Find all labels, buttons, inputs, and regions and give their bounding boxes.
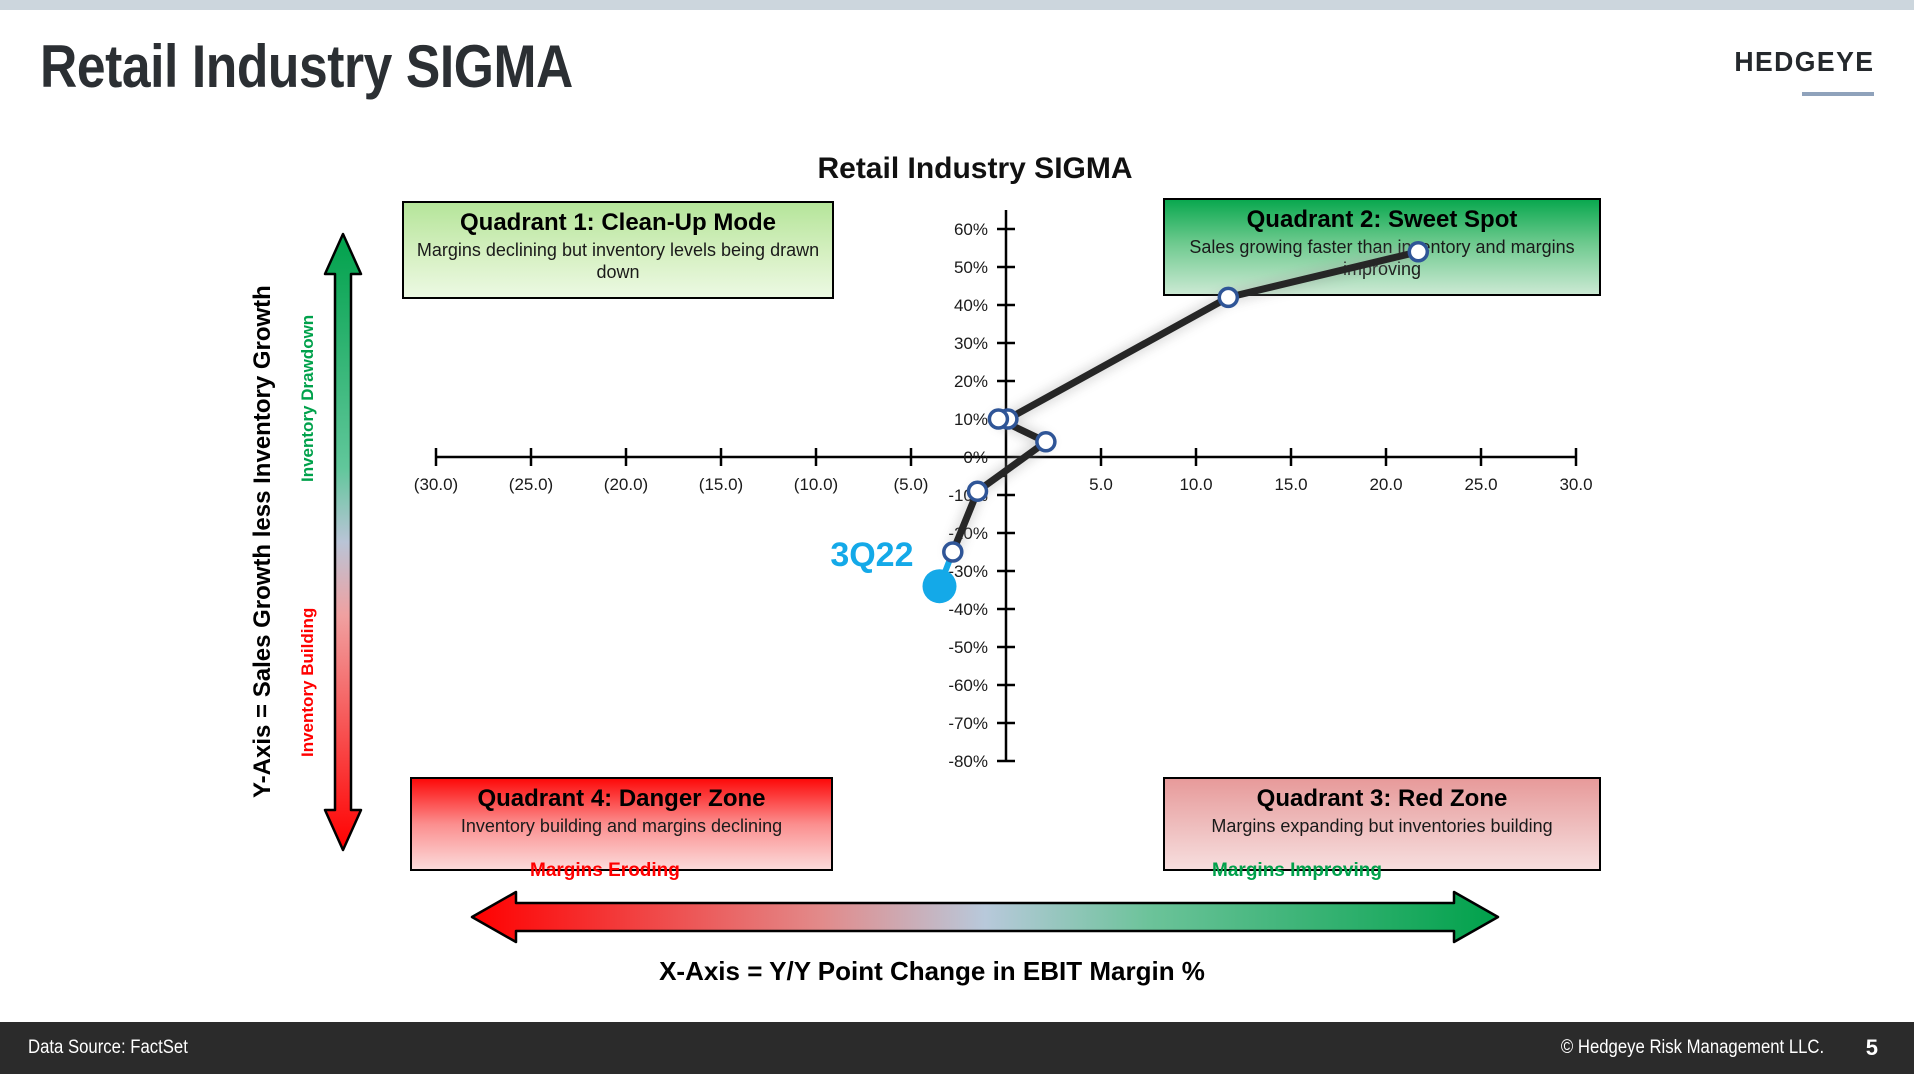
data-point-marker[interactable] <box>989 410 1007 428</box>
x-axis-tick-label: (20.0) <box>604 475 648 494</box>
y-axis-tick-label: 30% <box>954 334 988 353</box>
x-axis-annotation-group: Margins Eroding Margins Improving <box>470 888 1500 948</box>
axis-layer: (30.0)(25.0)(20.0)(15.0)(10.0)(5.0)5.010… <box>414 210 1593 771</box>
x-axis-tick-label: (30.0) <box>414 475 458 494</box>
y-axis-tick-label: -60% <box>948 676 988 695</box>
series-line <box>953 252 1419 552</box>
y-axis-tick-label: -70% <box>948 714 988 733</box>
x-axis-tick-label: (10.0) <box>794 475 838 494</box>
series-line-shadow <box>953 252 1419 552</box>
data-point-marker[interactable] <box>944 543 962 561</box>
y-axis-tick-label: -80% <box>948 752 988 771</box>
x-axis-tick-label: 15.0 <box>1274 475 1307 494</box>
x-axis-tick-label: 30.0 <box>1559 475 1592 494</box>
data-point-marker[interactable] <box>1219 288 1237 306</box>
footer-data-source: Data Source: FactSet <box>28 1037 188 1059</box>
data-point-marker[interactable] <box>969 482 987 500</box>
y-axis-tick-label: 10% <box>954 410 988 429</box>
y-axis-annotation-group: Y-Axis = Sales Growth less Inventory Gro… <box>255 232 375 852</box>
y-axis-tick-label: 0% <box>963 448 988 467</box>
y-axis-tick-label: -40% <box>948 600 988 619</box>
y-axis-caption: Y-Axis = Sales Growth less Inventory Gro… <box>241 232 285 852</box>
page-title: Retail Industry SIGMA <box>40 32 573 101</box>
logo-wordmark: HEDGEYE <box>1734 46 1874 78</box>
x-axis-label-margins-eroding: Margins Eroding <box>530 860 680 882</box>
footer-page-number: 5 <box>1866 1035 1878 1061</box>
x-axis-tick-label: 20.0 <box>1369 475 1402 494</box>
logo-underline-rule <box>1802 92 1874 96</box>
chart-title: Retail Industry SIGMA <box>18 152 1914 186</box>
y-axis-label-inventory-building: Inventory Building <box>293 562 323 802</box>
x-axis-tick-label: 10.0 <box>1179 475 1212 494</box>
x-axis-tick-label: 25.0 <box>1464 475 1497 494</box>
y-axis-tick-label: 60% <box>954 220 988 239</box>
highlight-label-3q22: 3Q22 <box>830 536 913 574</box>
slide-footer: Data Source: FactSet © Hedgeye Risk Mana… <box>0 1022 1914 1074</box>
margins-gradient-arrow-icon <box>470 888 1500 946</box>
top-accent-band <box>0 0 1914 10</box>
inventory-gradient-arrow-icon <box>323 232 363 852</box>
hedgeye-logo: HEDGEYE <box>1727 46 1874 96</box>
y-axis-tick-label: 50% <box>954 258 988 277</box>
data-point-marker[interactable] <box>1037 433 1055 451</box>
y-axis-label-inventory-drawdown: Inventory Drawdown <box>293 278 323 518</box>
y-axis-tick-label: 40% <box>954 296 988 315</box>
footer-copyright: © Hedgeye Risk Management LLC. <box>1561 1037 1824 1059</box>
plot-canvas: (30.0)(25.0)(20.0)(15.0)(10.0)(5.0)5.010… <box>370 210 1610 890</box>
x-axis-caption: X-Axis = Y/Y Point Change in EBIT Margin… <box>0 956 1889 987</box>
x-axis-tick-label: (15.0) <box>699 475 743 494</box>
x-axis-tick-label: 5.0 <box>1089 475 1113 494</box>
y-axis-tick-label: -50% <box>948 638 988 657</box>
data-point-marker[interactable] <box>1409 243 1427 261</box>
y-axis-tick-label: 20% <box>954 372 988 391</box>
sigma-scatter-plot: (30.0)(25.0)(20.0)(15.0)(10.0)(5.0)5.010… <box>370 210 1610 890</box>
highlight-point-3q22[interactable] <box>923 569 957 603</box>
x-axis-tick-label: (25.0) <box>509 475 553 494</box>
x-axis-label-margins-improving: Margins Improving <box>1212 860 1382 882</box>
series-layer: 3Q22 <box>830 243 1427 603</box>
x-axis-tick-label: (5.0) <box>894 475 929 494</box>
